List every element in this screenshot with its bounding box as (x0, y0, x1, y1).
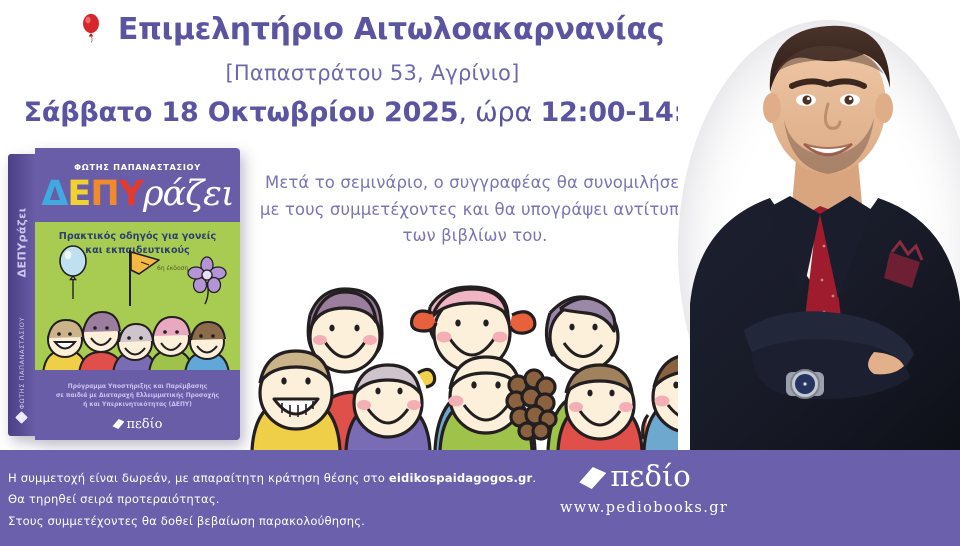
book-title-part-4: Υ (119, 174, 143, 214)
book-title-part-3: Π (90, 174, 118, 214)
footer-note-line-1: Η συμμετοχή είναι δωρεάν, με απαραίτητη … (8, 468, 536, 489)
pedio-logo: πεδίο (560, 462, 710, 491)
balloon-icon (81, 13, 101, 54)
poster-header: Επιμελητήριο Αιτωλοακαρνανίας [Παπαστράτ… (0, 10, 745, 133)
book-program-line-1: Πρόγραμμα Υποστήριξης και Παρέμβασης (68, 384, 207, 390)
publisher-diamond-icon (15, 411, 28, 424)
pedio-publisher-block[interactable]: πεδίο www.pediobooks.gr (560, 462, 710, 516)
speaker-portrait (678, 0, 960, 452)
book-title-part-5: ράζει (143, 174, 234, 214)
book-icon (579, 467, 606, 489)
address-line: [Παπαστράτου 53, Αγρίνιο] (0, 54, 745, 94)
book-program-line-3: ή και Υπερκινητικότητας (ΔΕΠΥ) (83, 402, 192, 408)
datetime-line: Σάββατο 18 Οκτωβρίου 2025, ώρα 12:00-14:… (0, 93, 745, 132)
book-subtitle-line-1: Πρακτικός οδηγός για γονείς (59, 231, 216, 242)
venue-text: Επιμελητήριο Αιτωλοακαρνανίας (118, 12, 664, 47)
book-spine: ΔΕΠΥράζει ΦΩΤΗΣ ΠΑΠΑΝΑΣΤΑΣΙΟΥ (8, 154, 35, 436)
book-spine-title: ΔΕΠΥράζει (15, 207, 28, 277)
children-group-illustration (250, 285, 700, 450)
footer-note-line-1-a: Η συμμετοχή είναι δωρεάν, με απαραίτητη … (8, 471, 389, 485)
book-publisher-logo: πεδίο (35, 417, 240, 432)
footer-notes: Η συμμετοχή είναι δωρεάν, με απαραίτητη … (8, 468, 536, 532)
venue-line: Επιμελητήριο Αιτωλοακαρνανίας (0, 10, 745, 54)
footer-note-line-2: Θα τηρηθεί σειρά προτεραιότητας. (8, 489, 536, 510)
book-author: ΦΩΤΗΣ ΠΑΠΑΝΑΣΤΑΣΙΟΥ (35, 162, 240, 172)
book-program-line-2: σε παιδιά με Διαταραχή Ελλειμματικής Προ… (56, 393, 219, 399)
book-title: ΔΕΠΥράζει (35, 177, 240, 212)
description-block: Μετά το σεμινάριο, ο συγγραφέας θα συνομ… (245, 170, 705, 250)
footer-band: Η συμμετοχή είναι δωρεάν, με απαραίτητη … (0, 450, 960, 546)
book-program-text: Πρόγραμμα Υποστήριξης και Παρέμβασης σε … (35, 383, 240, 410)
cover-balloon-icon (57, 244, 91, 304)
footer-note-line-3: Στους συμμετέχοντες θα δοθεί βεβαίωση πα… (8, 511, 536, 532)
book-icon (112, 419, 124, 429)
book-front-face: ΦΩΤΗΣ ΠΑΠΑΝΑΣΤΑΣΙΟΥ ΔΕΠΥράζει Πρακτικός … (35, 148, 240, 440)
book-title-part-2: Ε (67, 174, 90, 214)
registration-site-link[interactable]: eidikospaidagogos.gr (389, 471, 532, 485)
description-line-3: των βιβλίων του. (245, 223, 705, 250)
pedio-url[interactable]: www.pediobooks.gr (560, 500, 710, 516)
cover-children-illustration (35, 298, 240, 374)
description-line-1: Μετά το σεμινάριο, ο συγγραφέας θα συνομ… (245, 170, 705, 197)
date-separator: , ώρα (458, 97, 540, 128)
book-spine-author: ΦΩΤΗΣ ΠΑΠΑΝΑΣΤΑΣΙΟΥ (18, 317, 26, 409)
book-publisher-name: πεδίο (126, 417, 162, 432)
pedio-name: πεδίο (610, 459, 690, 493)
book-cover: ΔΕΠΥράζει ΦΩΤΗΣ ΠΑΠΑΝΑΣΤΑΣΙΟΥ ΦΩΤΗΣ ΠΑΠΑ… (8, 148, 240, 440)
event-poster: Επιμελητήριο Αιτωλοακαρνανίας [Παπαστράτ… (0, 0, 960, 546)
footer-note-line-1-c: . (532, 471, 536, 485)
date-text: Σάββατο 18 Οκτωβρίου 2025 (24, 97, 459, 128)
book-title-part-1: Δ (41, 174, 67, 214)
description-line-2: με τους συμμετέχοντες και θα υπογράψει α… (245, 197, 705, 224)
